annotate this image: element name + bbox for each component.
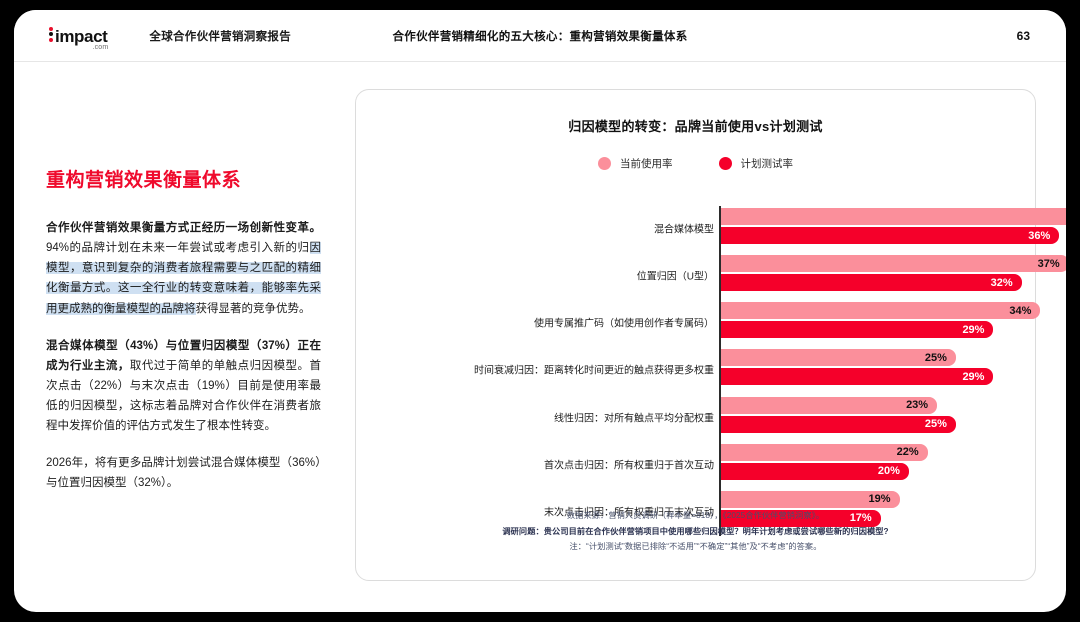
category-label: 线性归因：对所有触点平均分配权重 [554,409,714,424]
bar-pair: 25%29% [721,349,1011,389]
bar-planned-test[interactable]: 29% [721,368,993,385]
bar-value-label: 29% [962,324,993,336]
bar-current-usage[interactable]: 23% [721,397,937,414]
footnote-question: 调研问题：贵公司目前在合作伙伴营销项目中使用哪些归因模型？明年计划考虑或尝试哪些… [356,524,1035,539]
bar-current-usage[interactable]: 19% [721,491,900,508]
bar-group: 时间衰减归因：距离转化时间更近的触点获得更多权重25%29% [386,349,1011,389]
footnote-note: 注：“计划测试”数据已排除“不适用”“不确定”“其他”及“不考虑”的答案。 [356,539,1035,554]
paragraph-1-text-a: 94%的品牌计划在未来一年尝试或考虑引入新的归 [46,242,310,254]
bar-pair: 34%29% [721,302,1011,342]
bar-pair: 23%25% [721,397,1011,437]
paragraph-1: 合作伙伴营销效果衡量方式正经历一场创新性变革。94%的品牌计划在未来一年尝试或考… [46,218,321,319]
bar-group: 首次点击归因：所有权重归于首次互动22%20% [386,444,1011,484]
bar-value-label: 37% [1038,258,1066,270]
chart-card: 归因模型的转变：品牌当前使用vs计划测试 当前使用率 计划测试率 混合媒体模型4… [355,89,1036,581]
section-heading: 重构营销效果衡量体系 [46,165,321,192]
category-label: 混合媒体模型 [654,221,714,236]
bar-value-label: 34% [1009,305,1040,317]
legend-swatch-planned-icon [719,157,732,170]
bar-value-label: 20% [878,465,909,477]
paragraph-1-lead: 合作伙伴营销效果衡量方式正经历一场创新性变革。 [46,222,321,234]
bar-value-label: 25% [925,352,956,364]
bar-group: 线性归因：对所有触点平均分配权重23%25% [386,397,1011,437]
bar-value-label: 23% [906,399,937,411]
bar-group: 使用专属推广码（如使用创作者专属码）34%29% [386,302,1011,342]
logo-wordmark: impact [55,28,107,45]
page-number: 63 [1017,29,1030,43]
chart-plot-area: 混合媒体模型43%36%位置归因（U型）37%32%使用专属推广码（如使用创作者… [386,206,1011,536]
bar-planned-test[interactable]: 36% [721,227,1059,244]
legend-label-planned: 计划测试率 [741,156,794,171]
bar-value-label: 32% [991,277,1022,289]
bar-planned-test[interactable]: 29% [721,321,993,338]
logo-dots-icon [49,27,53,42]
bar-current-usage[interactable]: 37% [721,255,1066,272]
report-name: 全球合作伙伴营销洞察报告 [149,28,291,44]
legend-item-planned: 计划测试率 [719,156,794,171]
bar-value-label: 29% [962,371,993,383]
paragraph-1-text-b: 获得显著的竞争优势。 [196,303,311,315]
legend-label-current: 当前使用率 [620,156,673,171]
category-label: 时间衰减归因：距离转化时间更近的触点获得更多权重 [474,362,714,377]
bar-planned-test[interactable]: 20% [721,463,909,480]
legend-swatch-current-icon [598,157,611,170]
bar-current-usage[interactable]: 25% [721,349,956,366]
bar-group: 混合媒体模型43%36% [386,208,1011,248]
page-title: 合作伙伴营销精细化的五大核心：重构营销效果衡量体系 [393,28,688,44]
chart-footnotes: 数据来源：营销人员调研（样本量=818），《2025合作伙伴营销洞察》。 调研问… [356,508,1035,554]
bar-value-label: 25% [925,418,956,430]
impact-logo: impact .com [49,27,107,45]
category-label: 使用专属推广码（如使用创作者专属码） [534,315,714,330]
bar-current-usage[interactable]: 34% [721,302,1040,319]
paragraph-3: 2026年，将有更多品牌计划尝试混合媒体模型（36%）与位置归因模型（32%）。 [46,453,321,493]
logo-domain-suffix: .com [92,44,108,51]
bar-value-label: 19% [868,493,899,505]
bar-current-usage[interactable]: 43% [721,208,1066,225]
left-text-column: 重构营销效果衡量体系 合作伙伴营销效果衡量方式正经历一场创新性变革。94%的品牌… [46,165,321,511]
bar-planned-test[interactable]: 32% [721,274,1022,291]
bar-planned-test[interactable]: 25% [721,416,956,433]
bar-group: 位置归因（U型）37%32% [386,255,1011,295]
category-label: 首次点击归因：所有权重归于首次互动 [544,456,714,471]
chart-title: 归因模型的转变：品牌当前使用vs计划测试 [356,116,1035,135]
paragraph-2: 混合媒体模型（43%）与位置归因模型（37%）正在成为行业主流，取代过于简单的单… [46,336,321,437]
bar-current-usage[interactable]: 22% [721,444,928,461]
bar-pair: 22%20% [721,444,1011,484]
page-header: impact .com 全球合作伙伴营销洞察报告 合作伙伴营销精细化的五大核心：… [14,10,1066,62]
slide-page: impact .com 全球合作伙伴营销洞察报告 合作伙伴营销精细化的五大核心：… [14,10,1066,612]
category-label: 位置归因（U型） [637,268,714,283]
footnote-source: 数据来源：营销人员调研（样本量=818），《2025合作伙伴营销洞察》。 [356,508,1035,523]
bar-value-label: 22% [897,446,928,458]
bar-value-label: 36% [1028,230,1059,242]
chart-legend: 当前使用率 计划测试率 [356,156,1035,171]
legend-item-current: 当前使用率 [598,156,673,171]
bar-pair: 43%36% [721,208,1011,248]
bar-pair: 37%32% [721,255,1011,295]
